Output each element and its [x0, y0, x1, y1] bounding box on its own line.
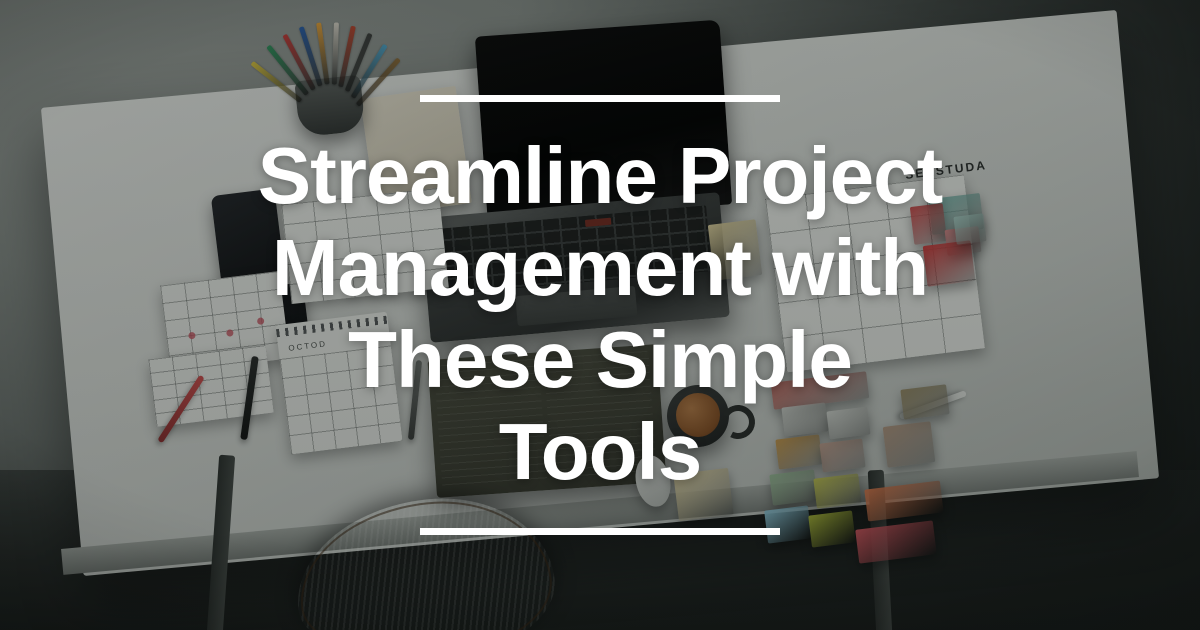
hero-banner: SERSTUDA OCTOD	[0, 0, 1200, 630]
divider-bottom	[420, 528, 780, 535]
divider-top	[420, 95, 780, 102]
headline-block: Streamline Project Management with These…	[0, 0, 1200, 630]
page-title: Streamline Project Management with These…	[255, 130, 945, 498]
